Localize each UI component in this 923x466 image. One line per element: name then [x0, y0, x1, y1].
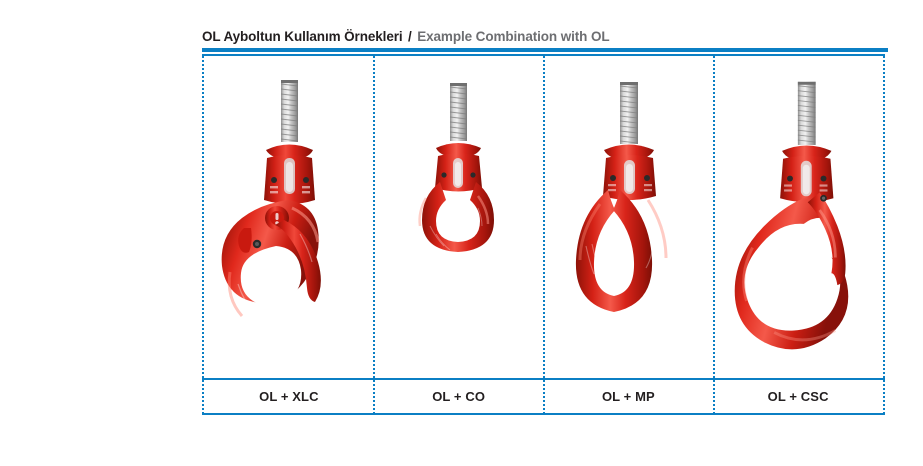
figure-cell-1 [204, 58, 374, 378]
page-title: OL Ayboltun Kullanım Örnekleri / Example… [202, 28, 892, 48]
label-row-bottom-rule [202, 413, 885, 415]
label-cell-4: OL + CSC [713, 380, 883, 413]
figure-row [204, 58, 883, 378]
label-cell-3: OL + MP [544, 380, 714, 413]
page-title-english: Example Combination with OL [417, 29, 609, 44]
connecting-link-icon [374, 58, 543, 378]
hook-image-ol-xlc [204, 58, 374, 378]
hook-image-ol-mp [544, 58, 714, 378]
hook-image-ol-csc [713, 58, 883, 378]
page-title-separator: / [407, 29, 413, 44]
page-root: OL Ayboltun Kullanım Örnekleri / Example… [0, 0, 923, 466]
label-cell-2: OL + CO [374, 380, 544, 413]
label-cell-1: OL + XLC [204, 380, 374, 413]
master-pear-link-icon [544, 58, 713, 378]
title-underline-thick [202, 48, 888, 52]
figure-cell-2 [374, 58, 544, 378]
page-title-turkish: OL Ayboltun Kullanım Örnekleri [202, 29, 403, 44]
sling-hook-with-latch-icon [713, 58, 883, 378]
figure-cell-3 [544, 58, 714, 378]
figure-cell-4 [713, 58, 883, 378]
hook-image-ol-co [374, 58, 544, 378]
label-row: OL + XLC OL + CO OL + MP OL + CSC [204, 380, 883, 413]
safety-hook-with-self-locking-latch-icon [204, 58, 373, 378]
